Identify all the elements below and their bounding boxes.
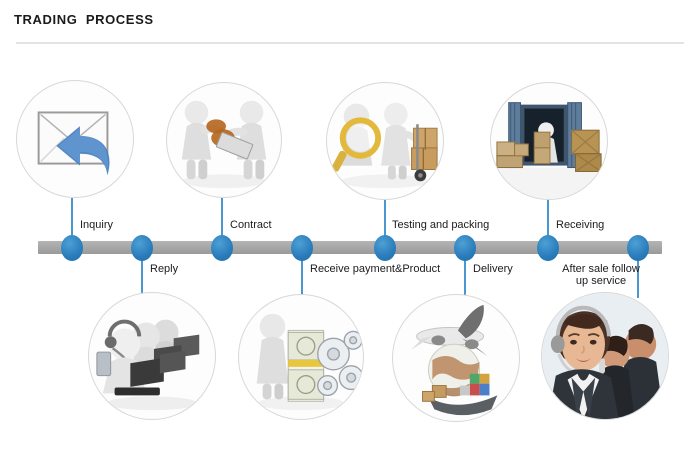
step-label-delivery: Delivery	[473, 263, 513, 275]
step-circle-testing[interactable]	[326, 82, 444, 200]
timeline-dot-5[interactable]	[374, 235, 396, 261]
timeline-dot-3[interactable]	[211, 235, 233, 261]
step-circle-contract[interactable]	[166, 82, 282, 198]
plane-globe-ship-icon	[393, 295, 519, 421]
step-label-reply: Reply	[150, 263, 178, 275]
step-label-contract: Contract	[230, 219, 272, 231]
step-circle-delivery[interactable]	[392, 294, 520, 422]
timeline-dot-8[interactable]	[627, 235, 649, 261]
header-divider	[16, 42, 684, 44]
timeline-dot-7[interactable]	[537, 235, 559, 261]
step-circle-reply[interactable]	[88, 292, 216, 420]
step-label-inquiry: Inquiry	[80, 219, 113, 231]
headset-agents-icon	[542, 293, 668, 419]
envelope-reply-icon	[17, 81, 133, 197]
timeline-dot-6[interactable]	[454, 235, 476, 261]
inspect-handtruck-icon	[327, 83, 443, 199]
step-label-receiving: Receiving	[556, 219, 604, 231]
call-center-computers-icon	[89, 293, 215, 419]
step-label-receive-payment: Receive payment&Product	[310, 263, 440, 275]
money-gears-icon	[239, 295, 363, 419]
step-circle-payment[interactable]	[238, 294, 364, 420]
timeline-dot-2[interactable]	[131, 235, 153, 261]
page-title: TRADING PROCESS	[14, 12, 154, 27]
timeline-dot-4[interactable]	[291, 235, 313, 261]
step-label-testing: Testing and packing	[392, 219, 489, 231]
step-circle-receiving[interactable]	[490, 82, 608, 200]
step-circle-inquiry[interactable]	[16, 80, 134, 198]
contract-handshake-icon	[167, 83, 281, 197]
step-circle-after-sale[interactable]	[541, 292, 669, 420]
shipping-container-icon	[491, 83, 607, 199]
timeline-dot-1[interactable]	[61, 235, 83, 261]
step-label-after-sale: After sale follow up service	[545, 263, 657, 287]
